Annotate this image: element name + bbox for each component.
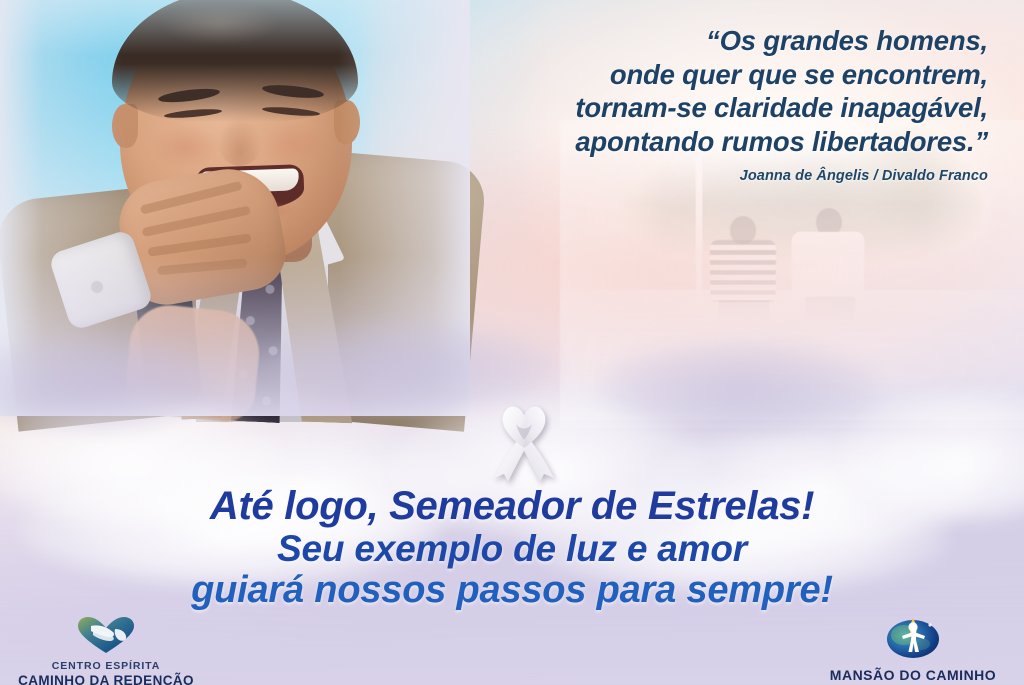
logo-right-line-1: MANSÃO DO CAMINHO xyxy=(808,667,1018,683)
poster-canvas: “Os grandes homens, onde quer que se enc… xyxy=(0,0,1024,685)
quote-line-2: onde quer que se encontrem, xyxy=(420,58,988,92)
portrait-edge-fade xyxy=(0,0,470,416)
logo-centro-espirita: CENTRO ESPÍRITA CAMINHO DA REDENÇÃO xyxy=(6,616,206,685)
quote-attribution: Joanna de Ângelis / Divaldo Franco xyxy=(420,168,988,184)
background-photo xyxy=(560,120,1024,420)
quote-text: “Os grandes homens, onde quer que se enc… xyxy=(420,24,988,158)
logo-left-line-1: CENTRO ESPÍRITA xyxy=(6,660,206,672)
globe-figure-icon xyxy=(808,612,1018,665)
tribute-headline: Até logo, Semeador de Estrelas! Seu exem… xyxy=(0,486,1024,609)
portrait-photo xyxy=(0,0,470,416)
background-photo-fade xyxy=(560,120,1024,420)
quote-line-4: apontando rumos libertadores.” xyxy=(420,125,988,159)
mourning-ribbon-icon xyxy=(486,404,562,482)
quote-line-3: tornam-se claridade inapagável, xyxy=(420,91,988,125)
logo-mansao-do-caminho: MANSÃO DO CAMINHO xyxy=(808,612,1018,683)
headline-line-3: guiará nossos passos para sempre! xyxy=(0,571,1024,609)
headline-line-2: Seu exemplo de luz e amor xyxy=(0,530,1024,567)
quote-line-1: “Os grandes homens, xyxy=(420,24,988,58)
logo-left-line-2: CAMINHO DA REDENÇÃO xyxy=(6,673,206,685)
heart-hands-icon xyxy=(6,616,206,659)
headline-line-1: Até logo, Semeador de Estrelas! xyxy=(0,486,1024,526)
